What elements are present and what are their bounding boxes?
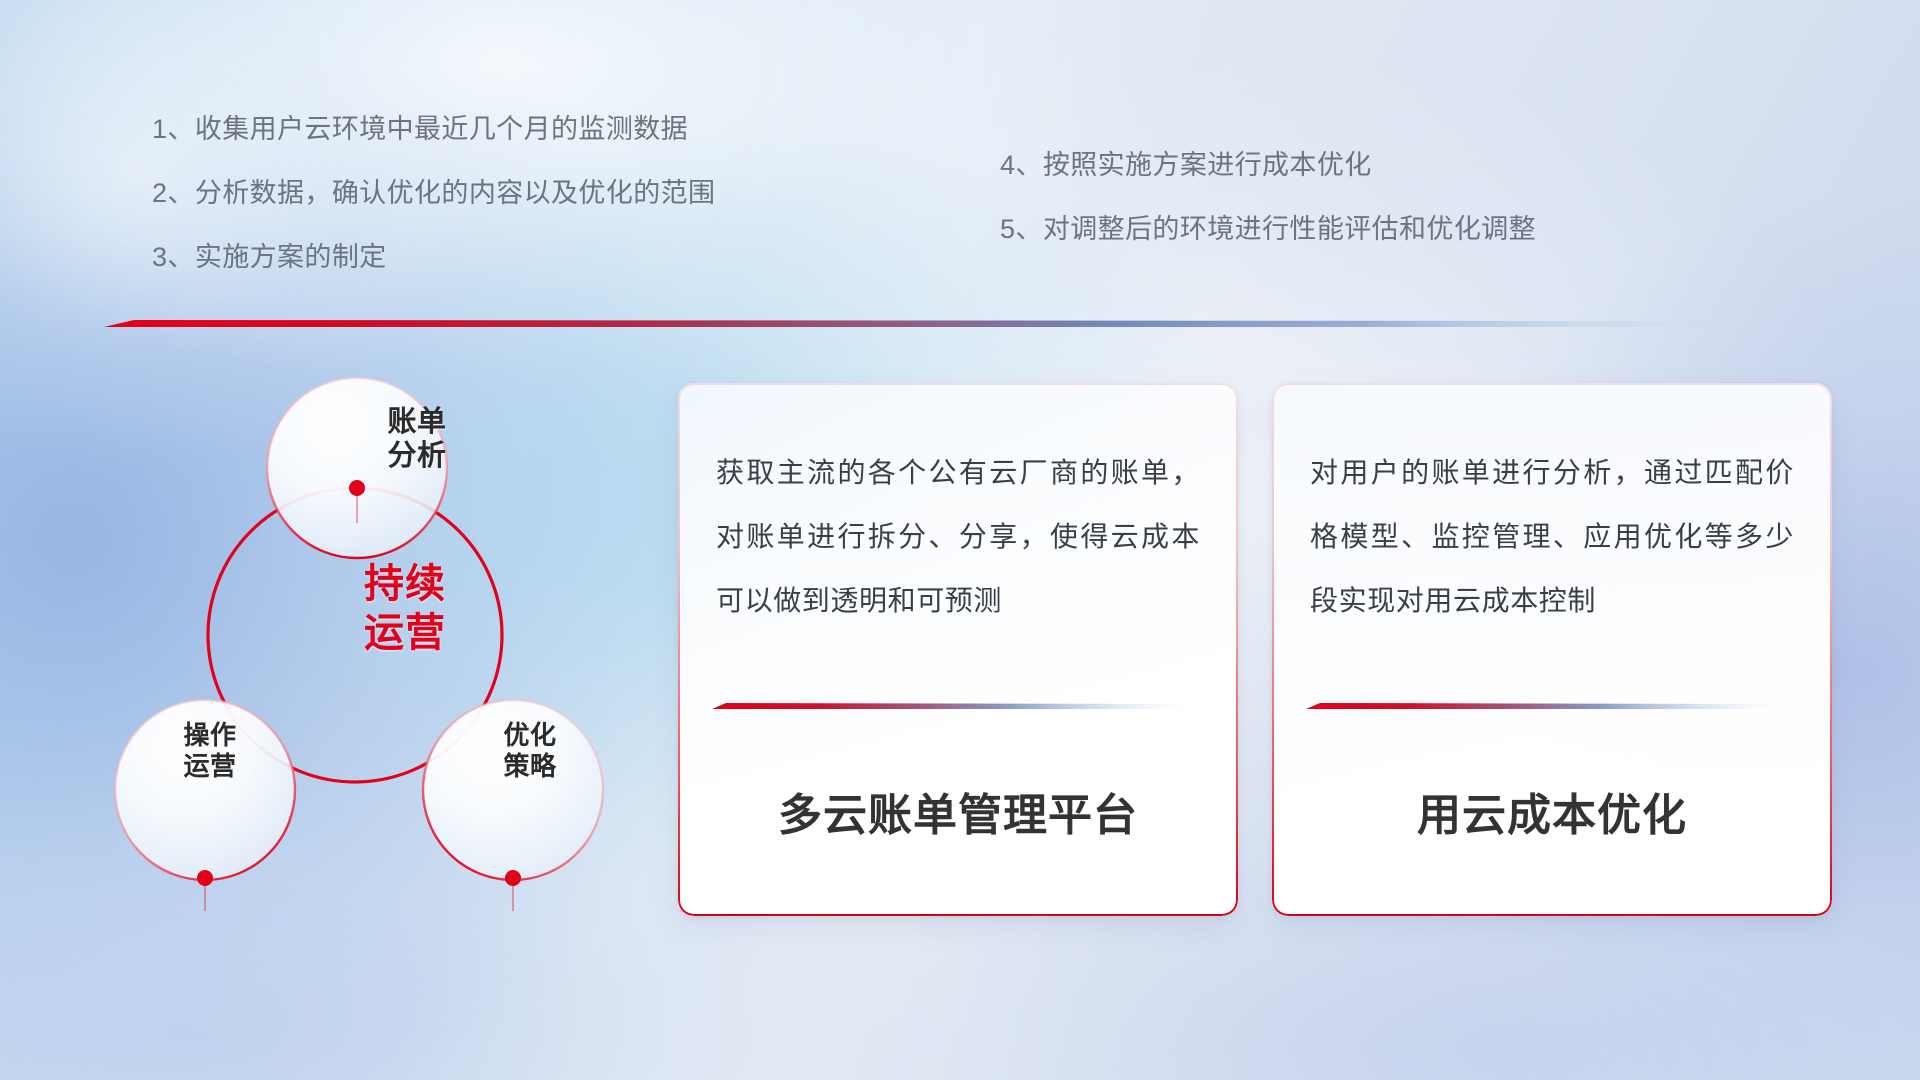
steps-right-column: 4、按照实施方案进行成本优化 5、对调整后的环境进行性能评估和优化调整 (1000, 152, 1536, 243)
divider-line-icon (104, 316, 1724, 330)
node-dot-left (197, 870, 213, 886)
step-item-1: 1、收集用户云环境中最近几个月的监测数据 (152, 116, 715, 143)
card-title: 用云成本优化 (1272, 779, 1832, 843)
card-accent-rule (1306, 697, 1780, 704)
card-rule-icon (1306, 703, 1780, 710)
section-divider (104, 316, 1724, 330)
node-dot-top (349, 480, 365, 496)
bubble-label-billing-analysis: 账单 分析 (327, 405, 507, 473)
card-title: 多云账单管理平台 (678, 779, 1238, 843)
step-item-2: 2、分析数据，确认优化的内容以及优化的范围 (152, 180, 715, 207)
card-multi-cloud-billing-platform[interactable]: 获取主流的各个公有云厂商的账单，对账单进行拆分、分享，使得云成本可以做到透明和可… (678, 383, 1238, 916)
bubble-label-operations: 操作 运营 (125, 720, 295, 781)
card-accent-rule (712, 697, 1186, 704)
card-cloud-cost-optimization[interactable]: 对用户的账单进行分析，通过匹配价格模型、监控管理、应用优化等多少段实现对用云成本… (1272, 383, 1832, 916)
step-item-5: 5、对调整后的环境进行性能评估和优化调整 (1000, 216, 1536, 243)
steps-left-column: 1、收集用户云环境中最近几个月的监测数据 2、分析数据，确认优化的内容以及优化的… (152, 116, 715, 271)
step-item-4: 4、按照实施方案进行成本优化 (1000, 152, 1536, 179)
bubble-label-optimization-policy: 优化 策略 (445, 720, 615, 781)
step-item-3: 3、实施方案的制定 (152, 244, 715, 271)
card-body-text: 获取主流的各个公有云厂商的账单，对账单进行拆分、分享，使得云成本可以做到透明和可… (716, 441, 1200, 632)
card-body-text: 对用户的账单进行分析，通过匹配价格模型、监控管理、应用优化等多少段实现对用云成本… (1310, 441, 1794, 632)
card-rule-icon (712, 703, 1186, 710)
diagram-center-label: 持续 运营 (300, 560, 510, 658)
slide-canvas: 1、收集用户云环境中最近几个月的监测数据 2、分析数据，确认优化的内容以及优化的… (0, 0, 1920, 1080)
node-dot-right (505, 870, 521, 886)
continuous-operations-diagram: 账单 分析 操作 运营 优化 策略 持续 运营 (95, 345, 615, 945)
